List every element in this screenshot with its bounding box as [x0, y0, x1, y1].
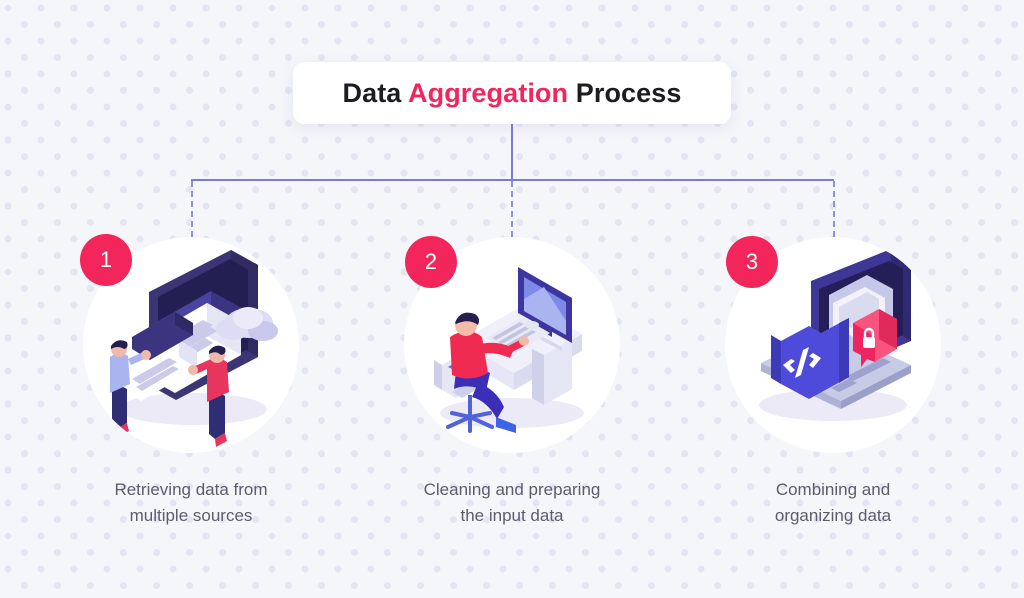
title-part-after: Process: [568, 78, 681, 108]
step-3-circle: 3: [725, 237, 941, 453]
connector-vertical-from-title: [511, 124, 513, 180]
title-card: Data Aggregation Process: [293, 62, 731, 124]
step-3-badge: 3: [726, 236, 778, 288]
title-part-before: Data: [342, 78, 408, 108]
step-2[interactable]: 2 Cleaning and preparing the input data: [352, 237, 672, 530]
title-part-accent: Aggregation: [408, 78, 568, 108]
step-2-badge: 2: [405, 236, 457, 288]
step-3-caption: Combining and organizing data: [688, 477, 978, 530]
step-1[interactable]: 1 Retrieving data from multiple sources: [31, 237, 351, 530]
step-1-badge: 1: [80, 234, 132, 286]
infographic-canvas: Data Aggregation Process: [0, 0, 1024, 598]
step-1-circle: 1: [83, 237, 299, 453]
step-2-circle: 2: [404, 237, 620, 453]
step-1-caption: Retrieving data from multiple sources: [46, 477, 336, 530]
step-2-caption: Cleaning and preparing the input data: [367, 477, 657, 530]
step-3[interactable]: 3 Combining and organizing data: [673, 237, 993, 530]
page-title: Data Aggregation Process: [342, 78, 681, 109]
